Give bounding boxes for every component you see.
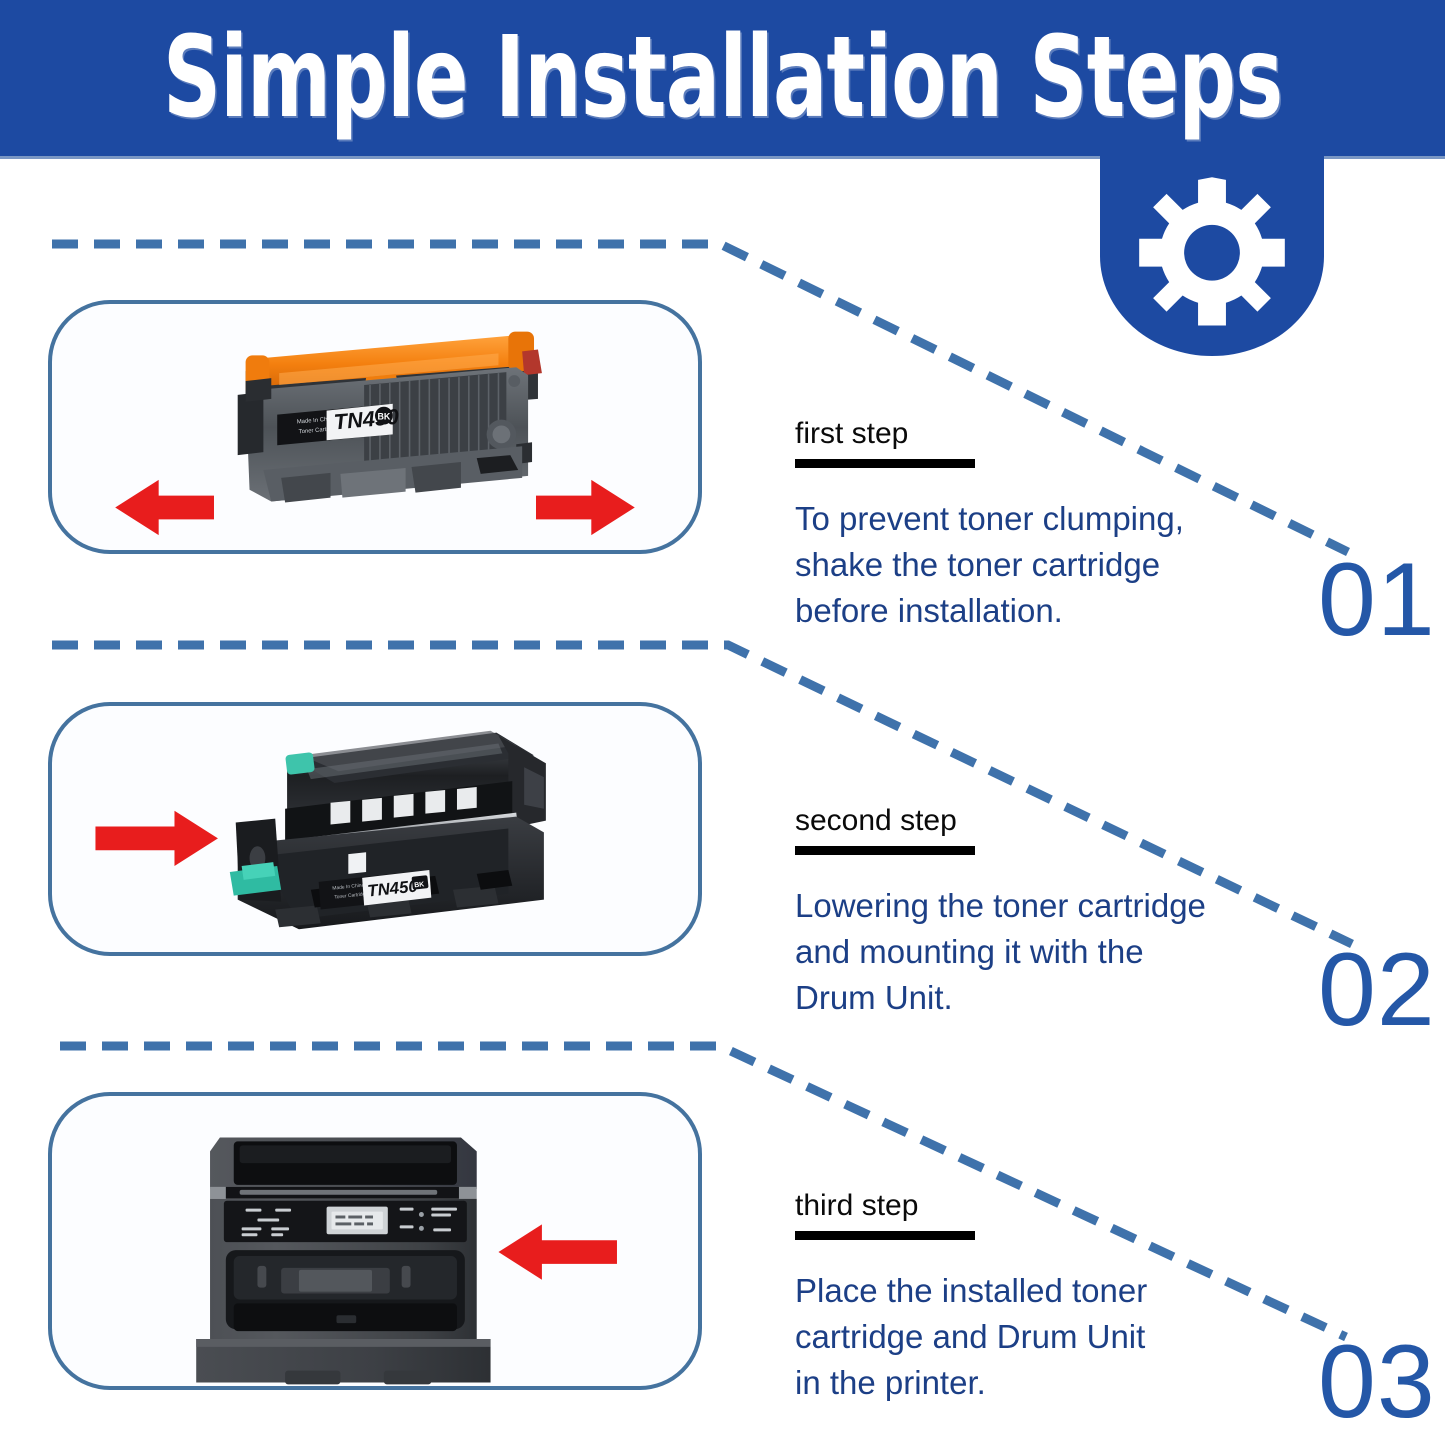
step-label-1: first step: [795, 418, 1184, 450]
step-rule-1: [795, 459, 975, 468]
drum-unit-illustration: Made In China Toner Cartridge TN450 BK: [52, 706, 698, 956]
place-arrow-left: [498, 1224, 617, 1279]
step-body-3: Place the installed toner cartridge and …: [795, 1268, 1147, 1407]
step-block-1: first step To prevent toner clumping, sh…: [795, 418, 1184, 634]
drum-color-code: BK: [414, 881, 425, 889]
step-number-2: 02: [1318, 938, 1436, 1042]
image-panel-printer: [48, 1092, 702, 1390]
header-bar: Simple Installation Steps: [0, 0, 1445, 156]
step-block-2: second step Lowering the toner cartridge…: [795, 805, 1206, 1021]
shake-arrow-right: [536, 480, 635, 535]
step-label-3: third step: [795, 1190, 1147, 1222]
toner-cartridge-illustration: Made In China Toner Cartridge TN450 BK: [52, 304, 698, 554]
insert-arrow-right: [95, 811, 217, 866]
step-number-3: 03: [1318, 1330, 1436, 1434]
printer-illustration: [52, 1096, 698, 1390]
image-panel-drum-unit: Made In China Toner Cartridge TN450 BK: [48, 702, 702, 956]
step-label-2: second step: [795, 805, 1206, 837]
gear-icon: [1130, 171, 1294, 335]
image-panel-toner-cartridge: Made In China Toner Cartridge TN450 BK: [48, 300, 702, 554]
page-title: Simple Installation Steps: [163, 22, 1283, 134]
step-rule-3: [795, 1231, 975, 1240]
step-body-1: To prevent toner clumping, shake the ton…: [795, 496, 1184, 635]
toner-color-code: BK: [377, 412, 390, 422]
shake-arrow-left: [115, 480, 214, 535]
gear-badge: [1100, 156, 1324, 356]
step-rule-2: [795, 846, 975, 855]
step-number-1: 01: [1318, 548, 1436, 652]
step-block-3: third step Place the installed toner car…: [795, 1190, 1147, 1406]
step-body-2: Lowering the toner cartridge and mountin…: [795, 883, 1206, 1022]
